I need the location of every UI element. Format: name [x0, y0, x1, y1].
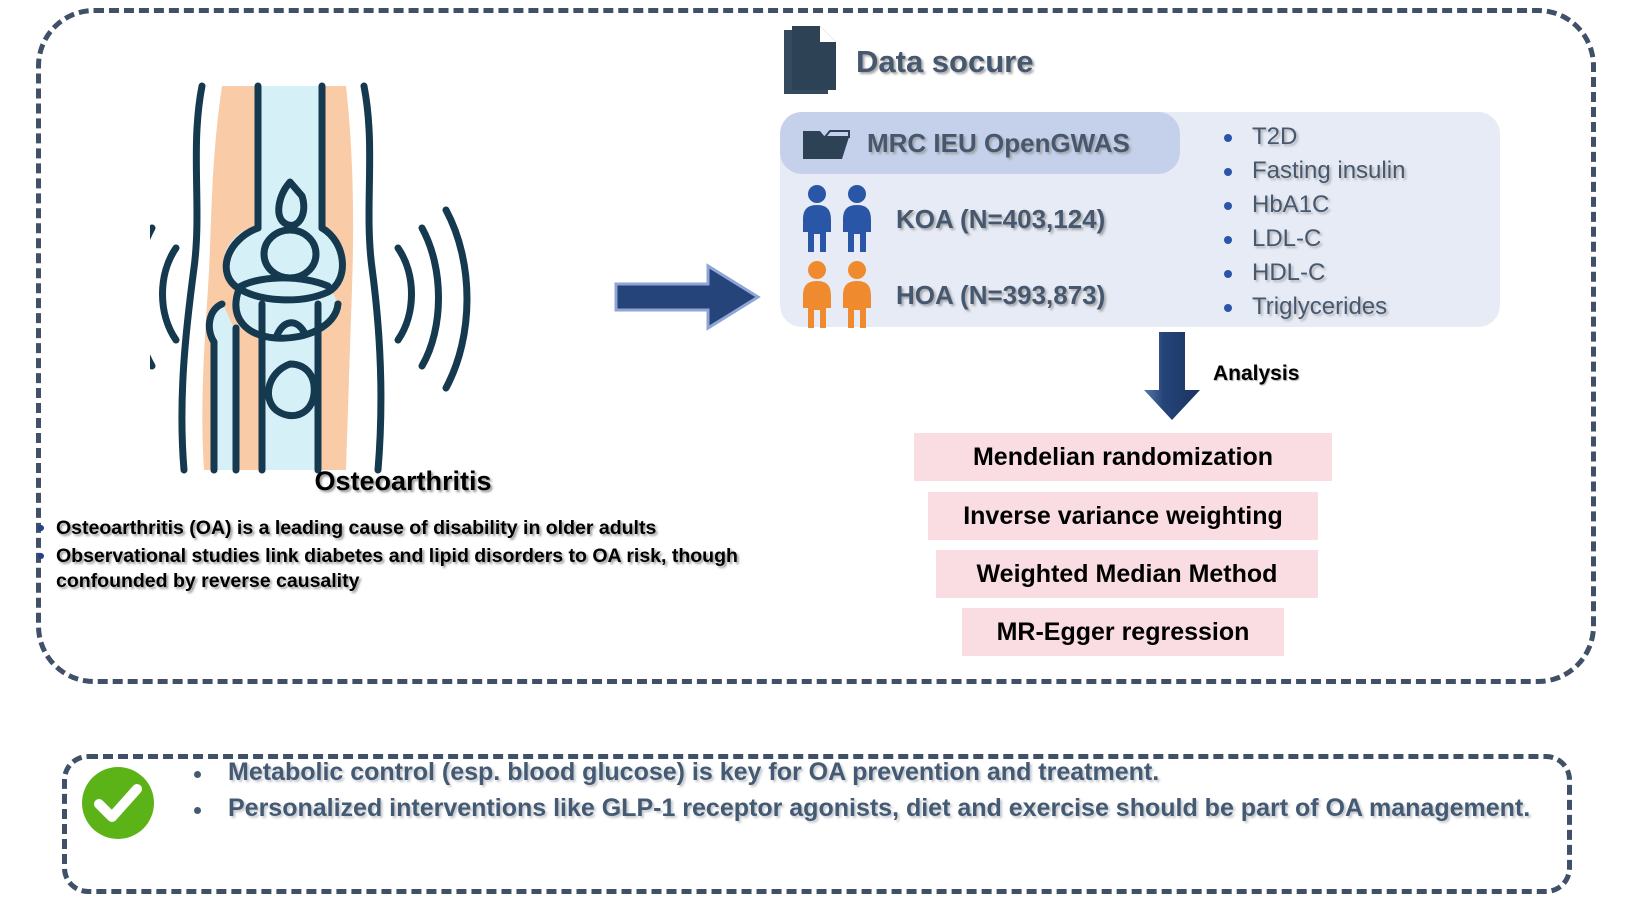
check-circle-icon — [80, 765, 156, 841]
list-item: T2D — [1200, 120, 1405, 154]
knee-joint-icon — [150, 78, 650, 478]
list-item: Osteoarthritis (OA) is a leading cause o… — [30, 516, 840, 542]
method-box-mendelian-randomization: Mendelian randomization — [914, 433, 1332, 481]
knee-diagram-title: Osteoarthritis — [118, 466, 688, 497]
cohort-koa-label: KOA (N=403,124) — [896, 204, 1105, 235]
conclusion-bullets: Metabolic control (esp. blood glucose) i… — [172, 756, 1542, 829]
data-source-header: Data socure — [782, 26, 1033, 98]
cohort-hoa: HOA (N=393,873) — [800, 260, 1105, 330]
people-icon-orange — [800, 260, 882, 330]
document-icon — [782, 26, 840, 98]
cohort-koa: KOA (N=403,124) — [800, 184, 1105, 254]
gwas-database-label: MRC IEU OpenGWAS — [867, 128, 1130, 159]
list-item: Fasting insulin — [1200, 154, 1405, 188]
method-box-mr-egger-regression: MR-Egger regression — [962, 608, 1284, 656]
method-box-weighted-median-method: Weighted Median Method — [936, 550, 1318, 598]
list-item: LDL-C — [1200, 222, 1405, 256]
gwas-panel: MRC IEU OpenGWAS KOA (N=403,124) — [780, 112, 1500, 327]
list-item: Personalized interventions like GLP-1 re… — [172, 792, 1542, 825]
gwas-database-band: MRC IEU OpenGWAS — [780, 112, 1180, 174]
exposure-list: T2D Fasting insulin HbA1C LDL-C HDL-C Tr… — [1200, 120, 1405, 324]
data-source-title: Data socure — [856, 44, 1033, 80]
list-item: Observational studies link diabetes and … — [30, 544, 840, 595]
cohort-hoa-label: HOA (N=393,873) — [896, 280, 1105, 311]
down-arrow-icon — [1141, 330, 1203, 422]
list-item: Metabolic control (esp. blood glucose) i… — [172, 756, 1542, 789]
method-box-inverse-variance-weighting: Inverse variance weighting — [928, 492, 1318, 540]
right-arrow-icon — [612, 262, 762, 332]
people-icon-blue — [800, 184, 882, 254]
background-bullets: Osteoarthritis (OA) is a leading cause o… — [30, 516, 840, 597]
analysis-label: Analysis — [1213, 362, 1299, 386]
list-item: HbA1C — [1200, 188, 1405, 222]
folder-icon — [802, 125, 852, 161]
list-item: Triglycerides — [1200, 290, 1405, 324]
list-item: HDL-C — [1200, 256, 1405, 290]
